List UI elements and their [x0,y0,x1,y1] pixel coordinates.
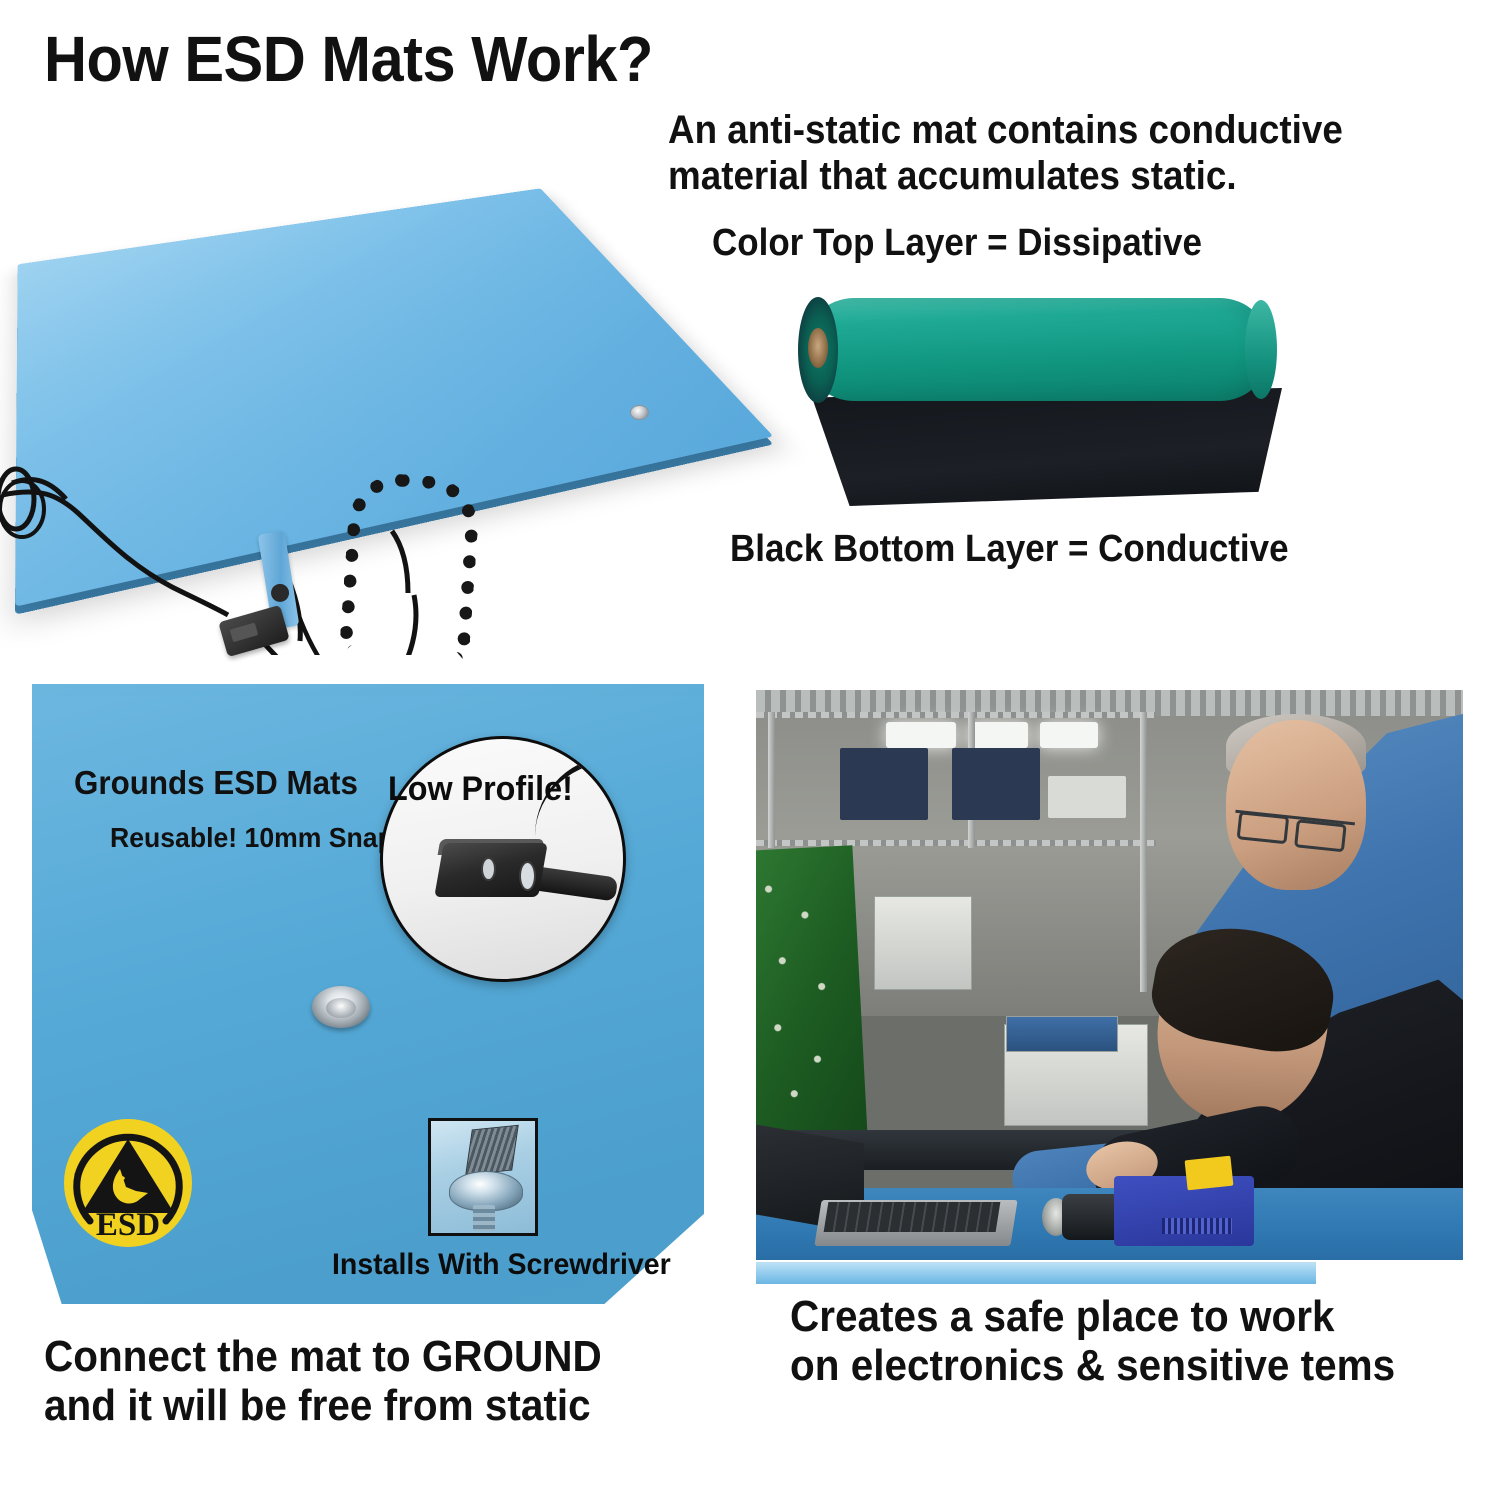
infographic-page: How ESD Mats Work? An anti-static mat co… [0,0,1500,1500]
roll-black-bottom-layer [812,388,1282,506]
esd-logo-text: ESD [96,1207,160,1243]
ws-instrument-module [1006,1016,1118,1052]
roll-green-top-layer [804,298,1270,401]
ws-shelf-rail [756,712,1156,718]
ws-ceiling-light [968,722,1028,748]
esd-susceptibility-icon: ESD [62,1117,194,1249]
ws-shelf-rail [756,840,1156,846]
caption-safe-place-to-work: Creates a safe place to work on electron… [790,1292,1395,1391]
grounds-esd-mats-title: Grounds ESD Mats [74,764,358,802]
intro-paragraph: An anti-static mat contains conductive m… [668,108,1404,199]
roll-far-end [1245,300,1277,399]
coiled-ground-cord [339,471,482,666]
ws-laptop-keyboard [824,1202,1001,1232]
low-profile-label: Low Profile! [388,770,573,809]
top-layer-label: Color Top Layer = Dissipative [712,222,1202,265]
ws-instrument-module [874,896,972,990]
callout-snap-socket-left [481,857,496,881]
photo-technicians-at-esd-workbench [756,690,1463,1260]
ws-shelf-post [1140,712,1147,992]
photo-bottom-edge-strip [756,1262,1316,1284]
photo-blue-mat-with-wrist-strap [0,95,720,655]
ws-technician-standing-head [1226,720,1366,890]
roll-core-tube [808,328,828,368]
caption-connect-to-ground: Connect the mat to GROUND and it will be… [44,1332,602,1431]
ws-parts-bin [840,748,928,820]
ws-shelf-post [768,712,775,848]
page-title: How ESD Mats Work? [44,22,653,96]
screwdriver-bit [465,1125,519,1176]
installs-with-screwdriver-caption: Installs With Screwdriver [332,1248,671,1282]
ws-parts-tray [1048,776,1126,818]
photo-two-layer-mat-roll [790,280,1310,520]
ws-circuit-board [756,845,868,1140]
ws-blue-test-unit [1114,1176,1254,1246]
ws-parts-bin [952,748,1040,820]
callout-snap-socket-right [519,861,536,891]
ws-yellow-label [1185,1156,1234,1191]
snap-fastener-icon [312,986,370,1028]
screwdriver-icon [428,1118,538,1236]
ws-ceiling-light [886,722,956,748]
ws-ceiling-light [1040,722,1098,748]
snap-screw-shaft [473,1205,495,1231]
bottom-layer-label: Black Bottom Layer = Conductive [730,528,1289,571]
